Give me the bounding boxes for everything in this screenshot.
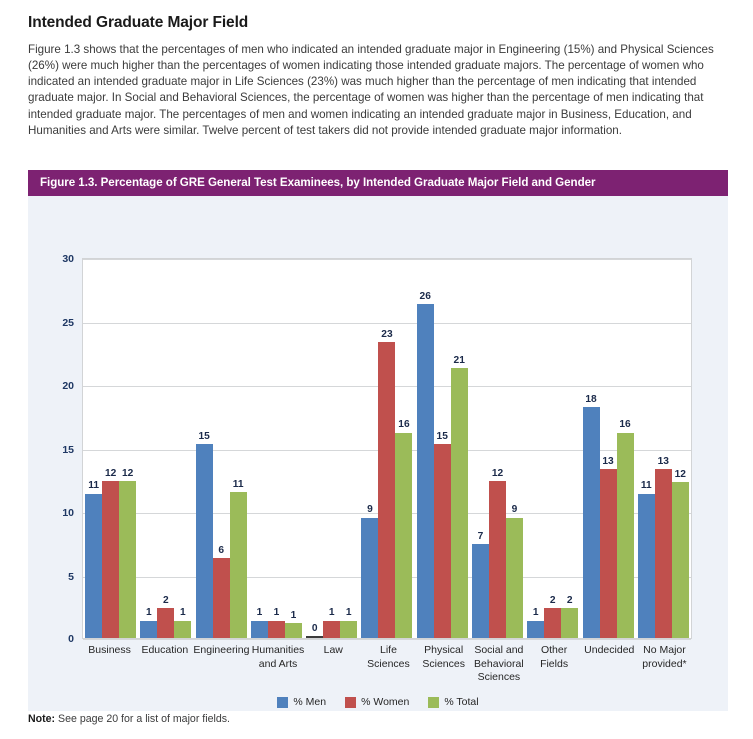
legend-item: % Women xyxy=(345,696,409,708)
figure-1-3: Figure 1.3. Percentage of GRE General Te… xyxy=(28,170,728,711)
bar-men: 1 xyxy=(527,621,544,639)
bar-value-label: 16 xyxy=(398,420,409,430)
bar-value-label: 11 xyxy=(641,481,652,491)
bar-value-label: 15 xyxy=(437,432,448,442)
bar-total: 12 xyxy=(119,481,136,638)
bar-value-label: 11 xyxy=(88,481,99,491)
page-title: Intended Graduate Major Field xyxy=(28,14,728,33)
bar-value-label: 9 xyxy=(512,505,518,515)
bar-men: 18 xyxy=(583,407,600,638)
bar-women: 13 xyxy=(600,469,617,638)
legend-label: % Women xyxy=(361,696,409,708)
bar-men: 7 xyxy=(472,544,489,638)
y-tick-label-0: 0 xyxy=(68,633,74,645)
figure-note-text: See page 20 for a list of major fields. xyxy=(55,713,230,725)
bar-value-label: 23 xyxy=(381,330,392,340)
bar-men: 26 xyxy=(417,304,434,638)
bar-value-label: 12 xyxy=(105,469,116,479)
legend-swatch-icon xyxy=(277,697,288,708)
bar-total: 1 xyxy=(174,621,191,639)
figure-banner-title: Figure 1.3. Percentage of GRE General Te… xyxy=(28,170,728,196)
bar-women: 12 xyxy=(489,481,506,638)
bar-value-label: 9 xyxy=(367,505,373,515)
y-tick-label-20: 20 xyxy=(62,380,74,392)
bar-value-label: 1 xyxy=(257,608,263,618)
bar-total: 1 xyxy=(340,621,357,639)
bar-total: 16 xyxy=(395,433,412,639)
bar-women: 1 xyxy=(323,621,340,639)
x-axis-label: Business xyxy=(82,644,137,685)
bar-total: 16 xyxy=(617,433,634,639)
bar-total: 9 xyxy=(506,518,523,639)
bar-women: 15 xyxy=(434,444,451,638)
chart-plot-area: 051015202530 111212121156111110119231626… xyxy=(82,258,692,639)
bar-group: 011 xyxy=(304,259,359,638)
bar-value-label: 1 xyxy=(533,608,539,618)
bar-value-label: 12 xyxy=(675,470,686,480)
x-axis-labels: BusinessEducationEngineeringHumanitiesan… xyxy=(82,644,692,685)
bar-men: 11 xyxy=(85,494,102,639)
bar-women: 1 xyxy=(268,621,285,639)
bar-men: 1 xyxy=(140,621,157,639)
x-axis-label: PhysicalSciences xyxy=(416,644,471,685)
legend-item: % Men xyxy=(277,696,326,708)
bar-value-label: 0 xyxy=(312,624,318,634)
bar-value-label: 26 xyxy=(420,292,431,302)
bar-men: 11 xyxy=(638,494,655,639)
y-tick-label-5: 5 xyxy=(68,571,74,583)
bar-group: 111212 xyxy=(83,259,138,638)
bar-total: 11 xyxy=(230,492,247,638)
bar-value-label: 18 xyxy=(585,395,596,405)
bar-men: 15 xyxy=(196,444,213,638)
x-axis-label: Law xyxy=(306,644,361,685)
bar-value-label: 2 xyxy=(567,596,573,606)
legend-swatch-icon xyxy=(428,697,439,708)
bar-value-label: 1 xyxy=(180,608,186,618)
y-tick-label-30: 30 xyxy=(62,253,74,265)
bar-value-label: 13 xyxy=(602,457,613,467)
bar-value-label: 1 xyxy=(329,608,335,618)
bar-group: 181316 xyxy=(580,259,635,638)
figure-note-label: Note: xyxy=(28,713,55,725)
bar-men: 1 xyxy=(251,621,268,639)
bar-group: 15611 xyxy=(194,259,249,638)
x-axis-label: Education xyxy=(137,644,192,685)
bar-value-label: 1 xyxy=(346,608,352,618)
bar-men: 0 xyxy=(306,636,323,638)
bar-total: 1 xyxy=(285,623,302,638)
bar-total: 21 xyxy=(451,368,468,639)
bar-group: 121 xyxy=(138,259,193,638)
bar-total: 2 xyxy=(561,608,578,638)
bar-group: 7129 xyxy=(470,259,525,638)
bar-value-label: 11 xyxy=(233,480,244,490)
bar-men: 9 xyxy=(361,518,378,639)
bar-value-label: 2 xyxy=(550,596,556,606)
bar-value-label: 21 xyxy=(454,356,465,366)
bar-value-label: 12 xyxy=(492,469,503,479)
bar-group: 111 xyxy=(249,259,304,638)
figure-note: Note: See page 20 for a list of major fi… xyxy=(28,713,230,725)
bar-value-label: 1 xyxy=(291,611,297,621)
x-axis-label: No Majorprovided* xyxy=(637,644,692,685)
legend-label: % Men xyxy=(293,696,326,708)
article-body: Intended Graduate Major Field Figure 1.3… xyxy=(0,0,753,139)
bar-women: 12 xyxy=(102,481,119,638)
bar-women: 2 xyxy=(544,608,561,638)
legend-swatch-icon xyxy=(345,697,356,708)
bar-groups: 1112121211561111101192316261521712912218… xyxy=(83,259,691,638)
bar-women: 23 xyxy=(378,342,395,638)
bar-women: 6 xyxy=(213,558,230,638)
bar-total: 12 xyxy=(672,482,689,638)
gridline-0: 0 xyxy=(83,639,691,640)
bar-value-label: 15 xyxy=(198,432,209,442)
chart-legend: % Men% Women% Total xyxy=(28,696,728,708)
x-axis-label: OtherFields xyxy=(526,644,581,685)
legend-item: % Total xyxy=(428,696,478,708)
bar-women: 2 xyxy=(157,608,174,638)
intro-paragraph: Figure 1.3 shows that the percentages of… xyxy=(28,42,728,140)
bar-value-label: 16 xyxy=(619,420,630,430)
bar-women: 13 xyxy=(655,469,672,638)
bar-value-label: 7 xyxy=(478,532,484,542)
bar-value-label: 1 xyxy=(274,608,280,618)
bar-value-label: 12 xyxy=(122,469,133,479)
x-axis-label: Humanitiesand Arts xyxy=(250,644,305,685)
x-axis-label: Undecided xyxy=(582,644,637,685)
bar-group: 261521 xyxy=(415,259,470,638)
y-tick-label-15: 15 xyxy=(62,444,74,456)
figure-panel: 051015202530 111212121156111110119231626… xyxy=(28,196,728,711)
x-axis-label: LifeSciences xyxy=(361,644,416,685)
bar-group: 111312 xyxy=(636,259,691,638)
x-axis-label: Engineering xyxy=(192,644,250,685)
bar-value-label: 6 xyxy=(218,546,224,556)
bar-group: 122 xyxy=(525,259,580,638)
bar-value-label: 1 xyxy=(146,608,152,618)
bar-group: 92316 xyxy=(359,259,414,638)
x-axis-label: Social andBehavioralSciences xyxy=(471,644,526,685)
y-tick-label-25: 25 xyxy=(62,317,74,329)
y-tick-label-10: 10 xyxy=(62,507,74,519)
bar-value-label: 2 xyxy=(163,596,169,606)
legend-label: % Total xyxy=(444,696,478,708)
bar-value-label: 13 xyxy=(658,457,669,467)
